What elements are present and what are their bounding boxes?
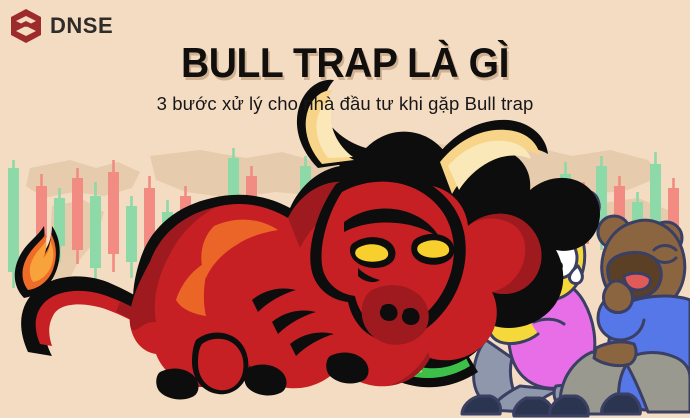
brand-name: DNSE — [50, 15, 113, 37]
page-subtitle: 3 bước xử lý cho nhà đầu tư khi gặp Bull… — [0, 93, 690, 115]
page-title: BULL TRAP LÀ GÌ — [24, 42, 666, 85]
poster-canvas: DNSE BULL TRAP LÀ GÌ 3 bước xử lý cho nh… — [0, 0, 690, 418]
headings-block: BULL TRAP LÀ GÌ 3 bước xử lý cho nhà đầu… — [0, 42, 690, 115]
dnse-hexagon-logo-icon — [10, 9, 42, 43]
brand-logo[interactable]: DNSE — [10, 9, 113, 43]
